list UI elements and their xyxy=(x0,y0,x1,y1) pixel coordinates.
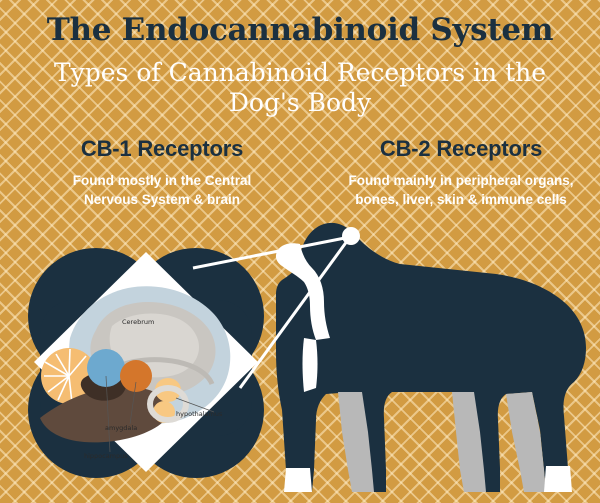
page-subtitle: Types of Cannabinoid Receptors in the Do… xyxy=(40,58,560,118)
cb1-body: Found mostly in the Central Nervous Syst… xyxy=(22,171,302,209)
connector-line-upper xyxy=(193,237,350,268)
label-amygdala: amygdala xyxy=(105,424,137,432)
page-title: The Endocannabinoid System xyxy=(0,12,600,48)
label-cerebrum: Cerebrum xyxy=(122,318,154,326)
connector-node xyxy=(342,227,360,245)
column-cb2: CB-2 Receptors Found mainly in periphera… xyxy=(330,136,592,209)
label-hypothalamus: hypothalamus xyxy=(176,410,222,418)
cb2-body: Found mainly in peripheral organs, bones… xyxy=(330,171,592,209)
column-cb1: CB-1 Receptors Found mostly in the Centr… xyxy=(22,136,302,209)
cb1-heading: CB-1 Receptors xyxy=(22,136,302,162)
cb2-heading: CB-2 Receptors xyxy=(330,136,592,162)
connector-line-lower xyxy=(240,237,350,388)
label-hippocampus: hippocampus xyxy=(84,452,128,460)
infographic-canvas: The Endocannabinoid System Types of Cann… xyxy=(0,0,600,503)
